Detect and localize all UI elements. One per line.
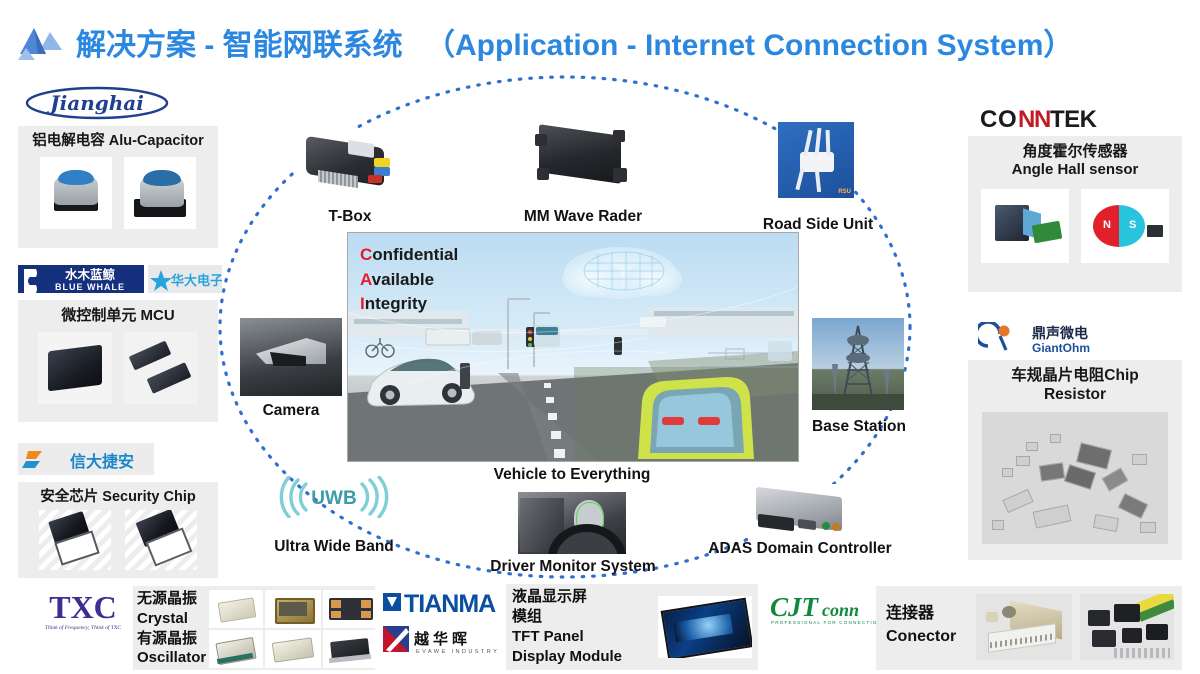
tft-line-4: Display Module	[512, 647, 622, 667]
svg-text:信大捷安: 信大捷安	[70, 452, 134, 471]
thumb-qfp-mcu-chip	[38, 332, 112, 404]
thumb-connector-housings-black	[1080, 594, 1174, 660]
panel-connector[interactable]: 连接器 Conector	[876, 586, 1182, 670]
tft-line-1: 液晶显示屏	[512, 587, 622, 607]
svg-text:鼎声微电: 鼎声微电	[1032, 325, 1088, 342]
thumb-oscillator-smd-1	[209, 630, 263, 668]
node-label-t-box: T-Box	[303, 208, 397, 226]
panel-title-tft-display: 液晶显示屏 模组 TFT Panel Display Module	[512, 587, 622, 667]
svg-text:Think of Frequency, Think of T: Think of Frequency, Think of TXC	[45, 624, 122, 631]
svg-text:N: N	[1018, 106, 1035, 132]
svg-text:越华晖: 越华晖	[413, 630, 471, 648]
node-label-ultra-wide-band: Ultra Wide Band	[255, 538, 413, 556]
overlay-line-integrity: Integrity	[360, 292, 458, 317]
node-image-uwb-signal-icon: UWB	[276, 476, 392, 518]
svg-text:C: C	[980, 106, 997, 132]
panel-title-angle-hall-sensor-en: Angle Hall sensor	[968, 160, 1182, 178]
panel-title-chip-resistor-en: Resistor	[968, 385, 1182, 404]
connector-line-2: Conector	[886, 625, 956, 648]
thumb-hall-sensor-motor	[981, 189, 1069, 263]
node-label-adas-domain-controller: ADAS Domain Controller	[700, 540, 900, 558]
brand-logo-cjtconn: CJT conn PROFESSIONAL FOR CONNECTION ONL…	[768, 590, 888, 630]
overlay-line-available: Available	[360, 268, 458, 293]
panel-tft-display[interactable]: 液晶显示屏 模组 TFT Panel Display Module	[506, 584, 758, 670]
panel-alu-capacitor[interactable]: 铝电解电容 Alu-Capacitor	[18, 126, 218, 248]
svg-text:水木蓝鲸: 水木蓝鲸	[65, 267, 116, 282]
node-image-road-side-unit: RSU	[778, 122, 854, 198]
thumb-security-chip-bga	[125, 510, 197, 570]
node-label-camera: Camera	[256, 402, 326, 420]
node-label-driver-monitor-system: Driver Monitor System	[485, 558, 661, 576]
brand-logo-huada-electronics: 华大电子	[148, 265, 222, 293]
crystal-line-1: 无源晶振	[137, 589, 209, 609]
thumb-connector-housings-beige	[976, 594, 1072, 660]
svg-text:Jianghai: Jianghai	[46, 91, 144, 115]
node-label-base-station: Base Station	[804, 418, 914, 436]
page-title-cn: 解决方案 - 智能网联系统	[76, 29, 403, 62]
node-image-camera	[240, 318, 342, 396]
brand-logo-txc: TXC Think of Frequency, Think of TXC	[28, 588, 138, 634]
thumb-security-chip-qfn	[39, 510, 111, 570]
svg-text:conn: conn	[822, 600, 859, 620]
panel-security-chip[interactable]: 安全芯片 Security Chip	[18, 482, 218, 578]
panel-chip-resistor[interactable]: 车规晶片电阻Chip Resistor	[968, 360, 1182, 560]
panel-mcu[interactable]: 微控制单元 MCU	[18, 300, 218, 422]
page-title-en: （Application - Internet Connection Syste…	[425, 29, 1073, 62]
overlay-rest-available: vailable	[372, 270, 434, 289]
thumb-magnet-ns-disc: N S	[1081, 189, 1169, 263]
svg-text:EVAWE INDUSTRY: EVAWE INDUSTRY	[416, 649, 499, 655]
thumb-oscillator-smd-2	[265, 630, 321, 668]
panel-title-crystal-oscillator: 无源晶振 Crystal 有源晶振 Oscillator	[137, 589, 209, 668]
svg-text:TEK: TEK	[1050, 106, 1098, 132]
panel-crystal-oscillator[interactable]: 无源晶振 Crystal 有源晶振 Oscillator	[133, 586, 375, 670]
node-image-adas-domain-controller	[748, 484, 852, 544]
thumb-chip-resistors-scatter	[982, 412, 1168, 544]
slide-root: 解决方案 - 智能网联系统 （Application - Internet Co…	[0, 0, 1200, 674]
svg-text:TIANMA: TIANMA	[404, 590, 496, 618]
node-image-mm-wave-rader	[525, 120, 637, 196]
svg-text:N: N	[1034, 106, 1051, 132]
svg-text:TXC: TXC	[49, 589, 117, 625]
thumb-crystal-gold-can	[265, 590, 321, 628]
panel-title-security-chip: 安全芯片 Security Chip	[18, 482, 218, 506]
svg-text:华大电子: 华大电子	[171, 273, 222, 289]
center-image-label: Vehicle to Everything	[482, 466, 662, 484]
panel-title-angle-hall-sensor-cn: 角度霍尔传感器	[968, 136, 1182, 160]
node-image-driver-monitor-system	[518, 492, 626, 554]
panel-title-connector: 连接器 Conector	[886, 602, 956, 648]
panel-title-alu-capacitor: 铝电解电容 Alu-Capacitor	[18, 126, 218, 150]
svg-text:BLUE WHALE: BLUE WHALE	[55, 282, 125, 292]
crystal-line-4: Oscillator	[137, 648, 209, 668]
svg-text:PROFESSIONAL FOR CONNECTION ON: PROFESSIONAL FOR CONNECTION ONLY	[771, 620, 888, 625]
crystal-line-3: 有源晶振	[137, 629, 209, 649]
svg-text:GiantOhm: GiantOhm	[1032, 341, 1090, 355]
panel-title-mcu: 微控制单元 MCU	[18, 300, 218, 324]
connector-line-1: 连接器	[886, 602, 956, 625]
node-image-t-box	[296, 128, 404, 198]
thumb-dual-soic-chips	[124, 332, 198, 404]
svg-text:UWB: UWB	[311, 488, 356, 509]
tft-line-2: 模组	[512, 607, 622, 627]
svg-text:O: O	[998, 106, 1016, 132]
thumb-crystal-smd-1	[209, 590, 263, 628]
overlay-initial-c: C	[360, 245, 372, 264]
panel-title-chip-resistor-cn: 车规晶片电阻Chip	[968, 360, 1182, 385]
thumb-tft-display-panel	[658, 596, 752, 658]
overlay-initial-a: A	[360, 270, 372, 289]
overlay-line-confidential: Confidential	[360, 243, 458, 268]
center-image-v2x-street-scene: Confidential Available Integrity	[347, 232, 799, 462]
panel-angle-hall-sensor[interactable]: 角度霍尔传感器 Angle Hall sensor N S	[968, 136, 1182, 292]
brand-logo-yuehuahui: 越华晖 EVAWE INDUSTRY	[382, 622, 504, 656]
thumb-alu-capacitor-blue-top	[40, 157, 112, 229]
brand-logo-blue-whale: 水木蓝鲸 BLUE WHALE	[18, 265, 144, 293]
mountain-triangle-icon	[16, 20, 72, 64]
svg-text:CJT: CJT	[770, 592, 820, 622]
brand-logo-xinda-jiean: 信大捷安	[18, 443, 154, 475]
thumb-oscillator-black	[323, 630, 379, 668]
page-title: 解决方案 - 智能网联系统 （Application - Internet Co…	[76, 20, 1073, 64]
thumb-alu-capacitor-smd	[124, 157, 196, 229]
brand-logo-giantohm: 鼎声微电 GiantOhm	[978, 322, 1128, 356]
brand-logo-tianma: TIANMA	[382, 586, 504, 620]
thumb-crystal-smd-pads	[323, 590, 379, 628]
overlay-rest-integrity: ntegrity	[365, 294, 427, 313]
crystal-line-2: Crystal	[137, 609, 209, 629]
brand-logo-jianghai: Jianghai	[22, 86, 172, 120]
tft-line-3: TFT Panel	[512, 627, 622, 647]
node-label-mm-wave-rader: MM Wave Rader	[510, 208, 656, 226]
page-title-bar: 解决方案 - 智能网联系统 （Application - Internet Co…	[0, 14, 1200, 70]
node-image-base-station	[812, 318, 904, 410]
brand-logo-conntek: C O N N TEK	[978, 104, 1118, 132]
overlay-rest-confidential: onfidential	[372, 245, 458, 264]
